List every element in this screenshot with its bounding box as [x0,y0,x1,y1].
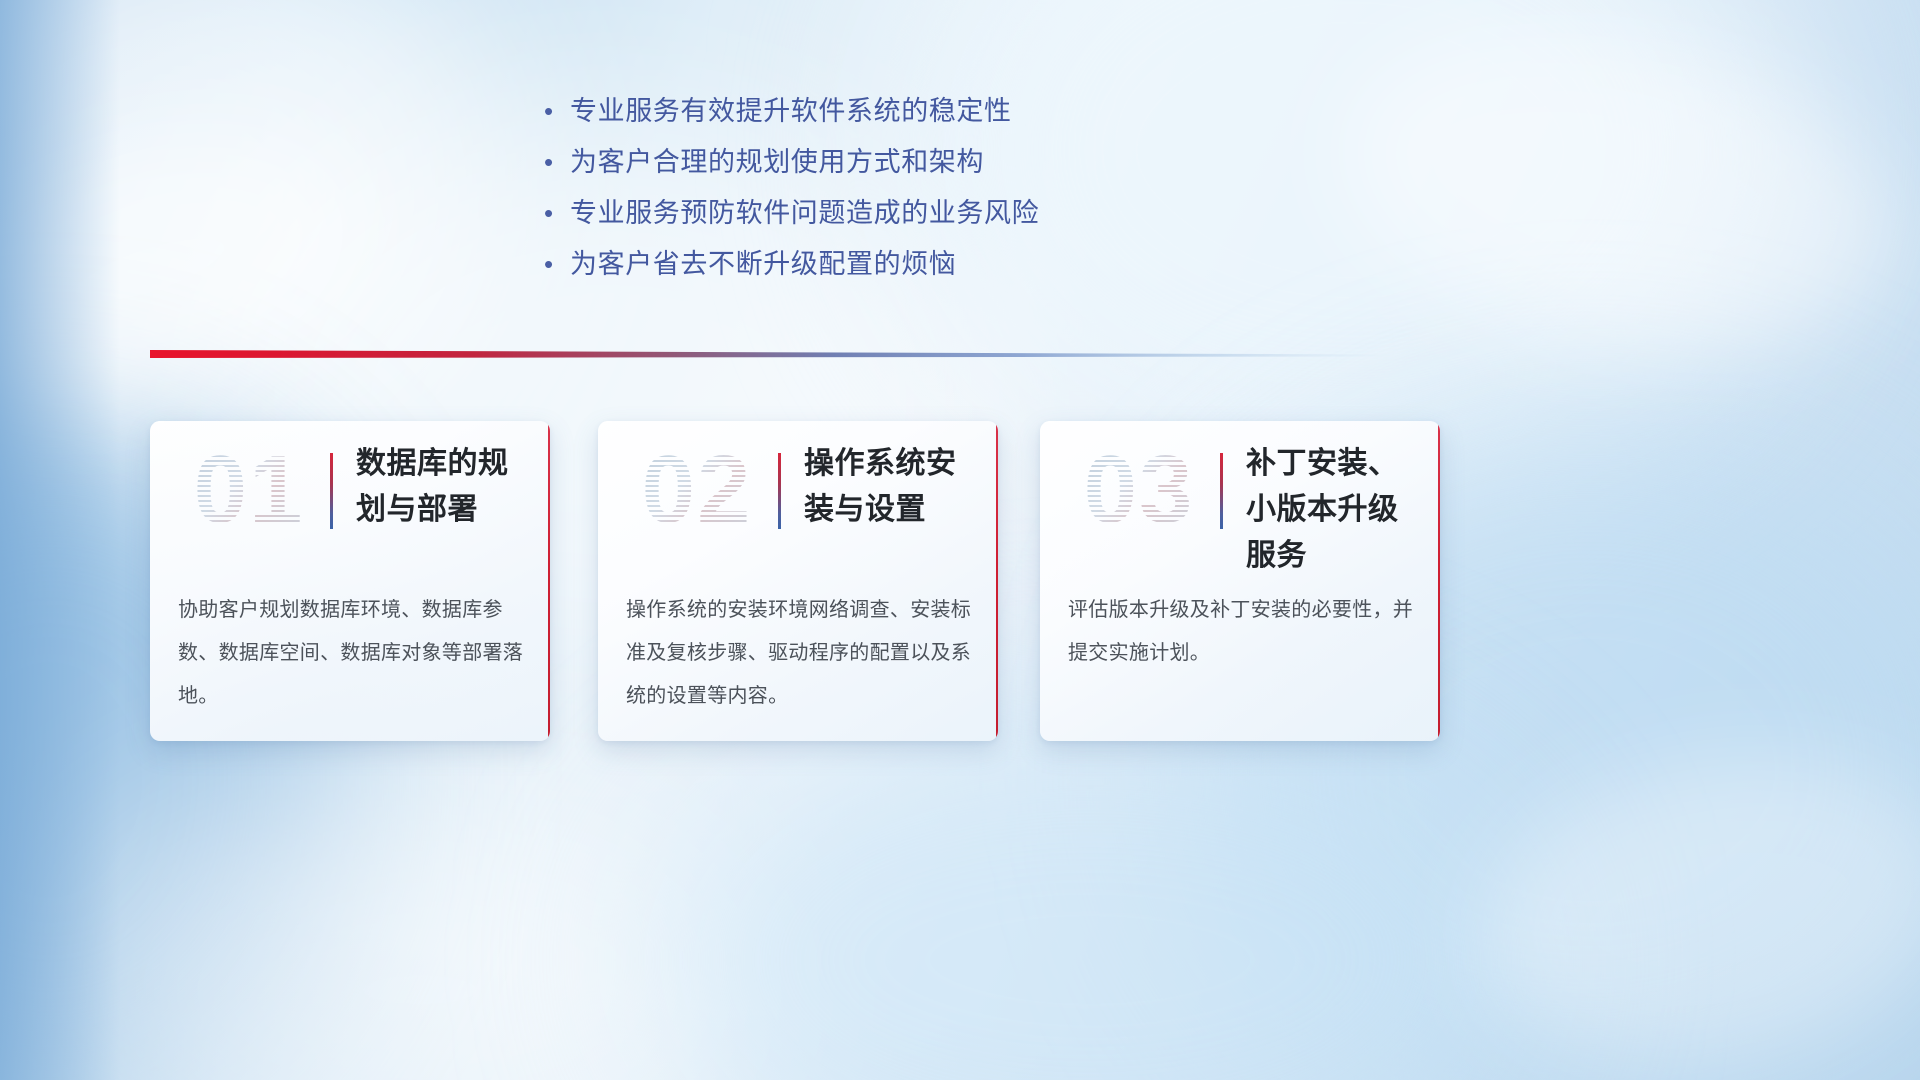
list-item: • 为客户省去不断升级配置的烦恼 [536,239,1256,290]
list-item: • 为客户合理的规划使用方式和架构 [536,137,1256,188]
bullet-dot-icon: • [536,86,570,137]
card-title: 补丁安装、小版本升级服务 [1246,441,1426,579]
gradient-accent-bar-icon [778,453,781,529]
bullet-text: 专业服务有效提升软件系统的稳定性 [570,86,1012,137]
service-card[interactable]: 03 补丁安装、小版本升级服务 评估版本升级及补丁安装的必要性，并提交实施计划。 [1040,421,1440,741]
bullet-text: 为客户合理的规划使用方式和架构 [570,137,984,188]
card-header: 03 补丁安装、小版本升级服务 [1040,421,1440,581]
card-number-watermark: 01 [174,435,324,545]
tapered-divider-icon [150,344,1395,366]
card-title: 数据库的规划与部署 [356,441,536,533]
card-body-text: 操作系统的安装环境网络调查、安装标准及复核步骤、驱动程序的配置以及系统的设置等内… [626,589,972,718]
card-header: 02 操作系统安装与设置 [598,421,998,581]
gradient-accent-bar-icon [1220,453,1223,529]
card-number-text: 02 [642,435,753,545]
card-body-text: 评估版本升级及补丁安装的必要性，并提交实施计划。 [1068,589,1414,675]
benefits-bullet-list: • 专业服务有效提升软件系统的稳定性 • 为客户合理的规划使用方式和架构 • 专… [536,86,1256,290]
service-card[interactable]: 01 数据库的规划与部署 协助客户规划数据库环境、数据库参数、数据库空间、数据库… [150,421,550,741]
bullet-dot-icon: • [536,137,570,188]
bullet-dot-icon: • [536,239,570,290]
service-card-list: 01 数据库的规划与部署 协助客户规划数据库环境、数据库参数、数据库空间、数据库… [150,421,1770,746]
gradient-accent-bar-icon [330,453,333,529]
card-number-watermark: 02 [622,435,772,545]
service-card[interactable]: 02 操作系统安装与设置 操作系统的安装环境网络调查、安装标准及复核步骤、驱动程… [598,421,998,741]
list-item: • 专业服务有效提升软件系统的稳定性 [536,86,1256,137]
bullet-dot-icon: • [536,188,570,239]
list-item: • 专业服务预防软件问题造成的业务风险 [536,188,1256,239]
card-body-text: 协助客户规划数据库环境、数据库参数、数据库空间、数据库对象等部署落地。 [178,589,524,718]
card-number-watermark: 03 [1064,435,1214,545]
card-title: 操作系统安装与设置 [804,441,984,533]
bullet-text: 专业服务预防软件问题造成的业务风险 [570,188,1039,239]
card-number-text: 03 [1084,435,1195,545]
card-number-text: 01 [194,435,305,545]
bullet-text: 为客户省去不断升级配置的烦恼 [570,239,956,290]
card-header: 01 数据库的规划与部署 [150,421,550,581]
